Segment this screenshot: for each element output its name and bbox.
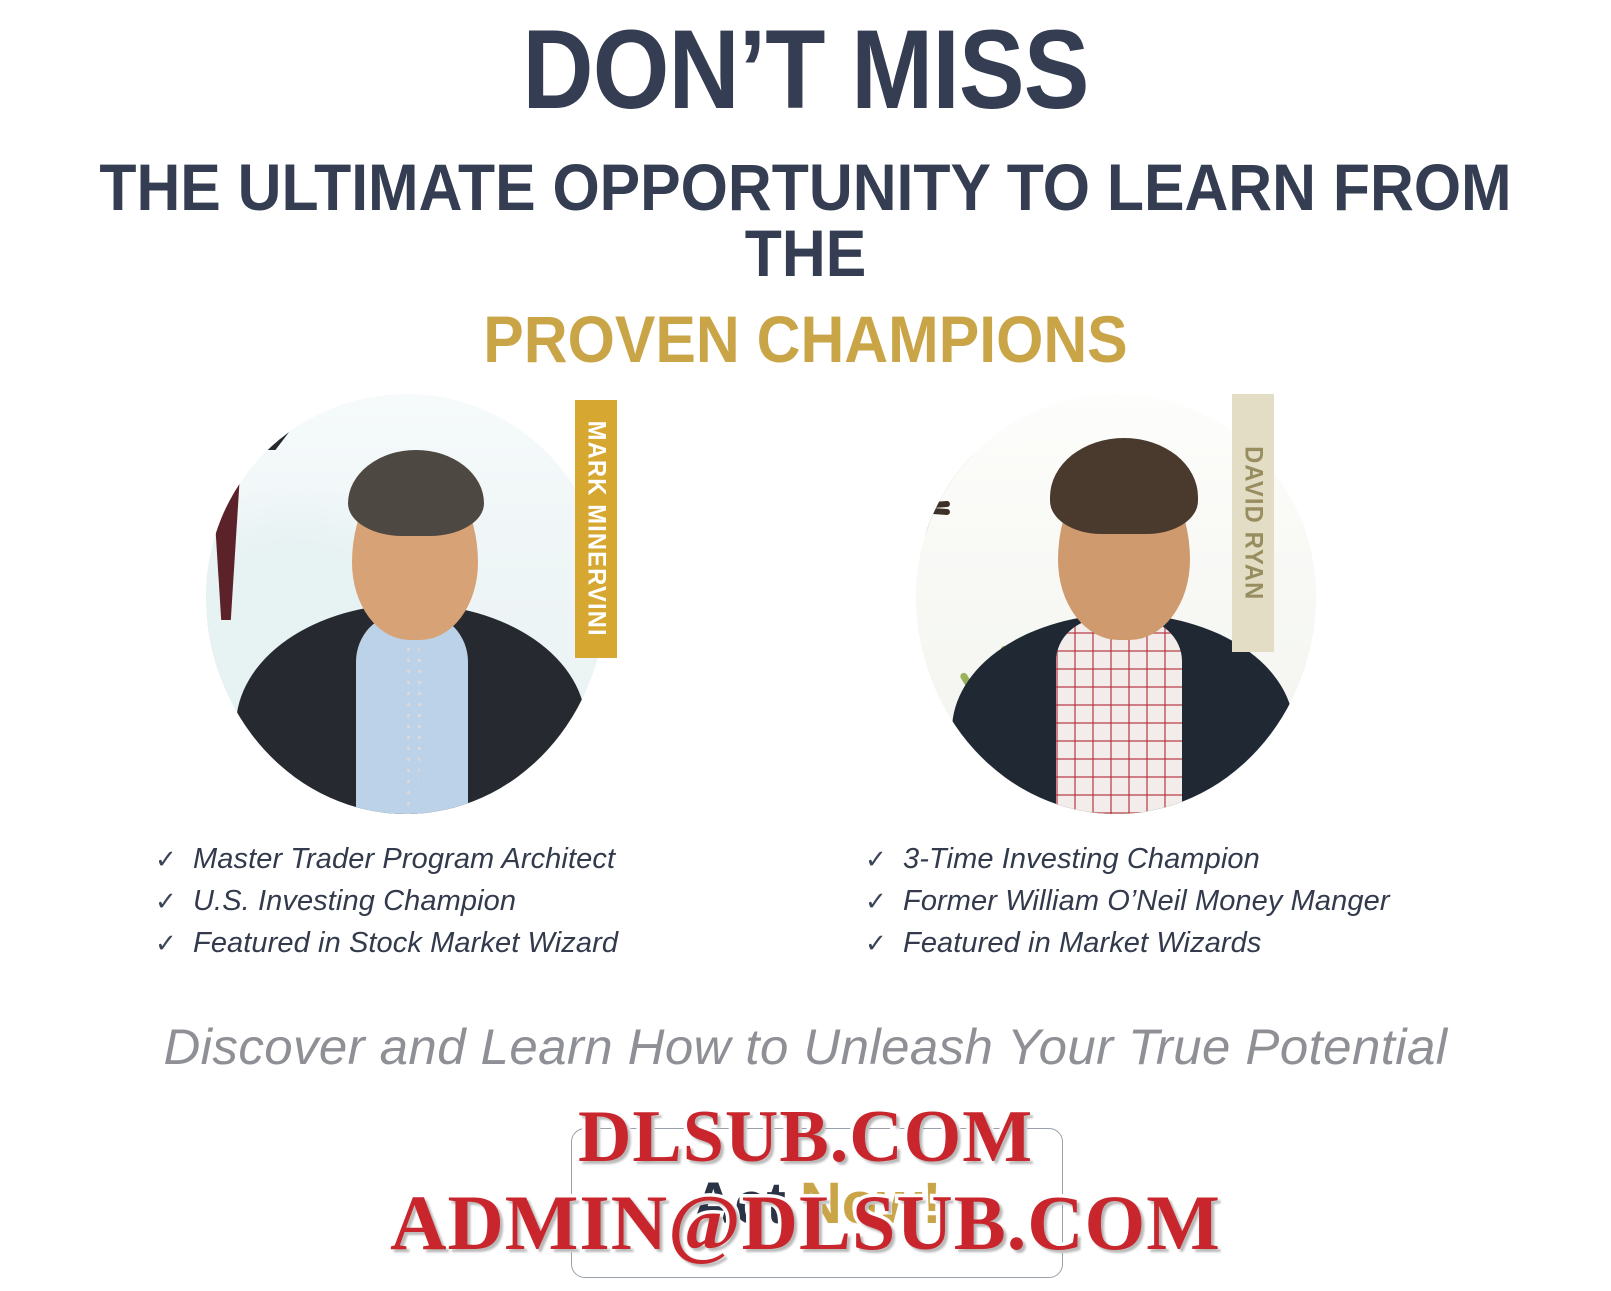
- champion-card-mark-minervini: MARK MINERVINI: [170, 382, 630, 832]
- credentials-list-ryan: ✓ 3-Time Investing Champion ✓ Former Wil…: [865, 843, 1390, 969]
- credentials-list-mark: ✓ Master Trader Program Architect ✓ U.S.…: [155, 843, 618, 969]
- headline-primary: DON’T MISS: [97, 14, 1515, 126]
- list-item-label: 3-Time Investing Champion: [903, 843, 1260, 876]
- shirt-check-pattern-ryan: [1056, 618, 1182, 814]
- check-icon: ✓: [155, 888, 193, 914]
- promo-poster: DON’T MISS THE ULTIMATE OPPORTUNITY TO L…: [0, 0, 1611, 1291]
- name-banner-label-ryan: DAVID RYAN: [1239, 446, 1268, 600]
- list-item: ✓ Master Trader Program Architect: [155, 843, 618, 885]
- list-item-label: Featured in Stock Market Wizard: [193, 927, 618, 960]
- check-icon: ✓: [865, 888, 903, 914]
- list-item: ✓ U.S. Investing Champion: [155, 885, 618, 927]
- champions-photo-row: MARK MINERVINI: [0, 382, 1611, 832]
- list-item-label: Former William O’Neil Money Manger: [903, 885, 1390, 918]
- check-icon: ✓: [865, 930, 903, 956]
- headline-accent: PROVEN CHAMPIONS: [64, 306, 1546, 372]
- list-item: ✓ Former William O’Neil Money Manger: [865, 885, 1390, 927]
- list-item: ✓ Featured in Stock Market Wizard: [155, 927, 618, 969]
- portrait-photo-mark: [206, 394, 606, 814]
- watermark-site: DLSUB.COM: [0, 1095, 1611, 1180]
- name-banner-mark-minervini: MARK MINERVINI: [575, 400, 617, 658]
- headline-block: DON’T MISS THE ULTIMATE OPPORTUNITY TO L…: [0, 0, 1611, 372]
- check-icon: ✓: [155, 930, 193, 956]
- check-icon: ✓: [155, 846, 193, 872]
- list-item: ✓ 3-Time Investing Champion: [865, 843, 1390, 885]
- watermark-email: ADMIN@DLSUB.COM: [0, 1178, 1611, 1268]
- photo-wrap-mark: [206, 394, 606, 814]
- check-icon: ✓: [865, 846, 903, 872]
- list-item: ✓ Featured in Market Wizards: [865, 927, 1390, 969]
- name-banner-label-mark: MARK MINERVINI: [582, 421, 611, 637]
- list-item-label: Master Trader Program Architect: [193, 843, 615, 876]
- list-item-label: U.S. Investing Champion: [193, 885, 516, 918]
- list-item-label: Featured in Market Wizards: [903, 927, 1262, 960]
- tagline: Discover and Learn How to Unleash Your T…: [0, 1018, 1611, 1076]
- headline-secondary: THE ULTIMATE OPPORTUNITY TO LEARN FROM T…: [64, 154, 1546, 286]
- name-banner-david-ryan: DAVID RYAN: [1232, 394, 1274, 652]
- champion-card-david-ryan: DAVID RYAN: [880, 382, 1340, 832]
